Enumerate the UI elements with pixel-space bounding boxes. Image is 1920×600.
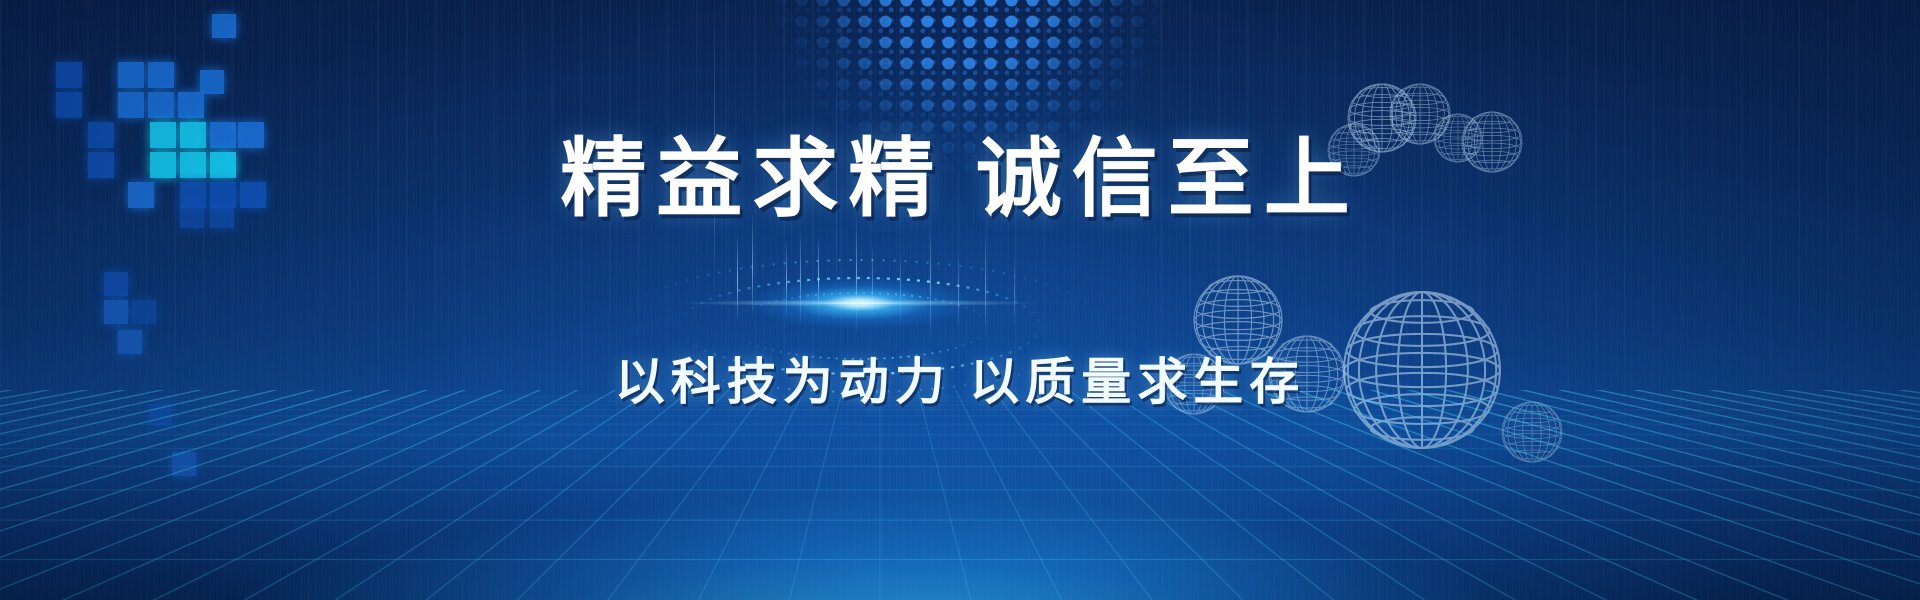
mosaic-pixel (148, 62, 174, 88)
light-beam (818, 236, 819, 320)
light-beam (872, 244, 873, 322)
mosaic-pixel (172, 452, 196, 476)
page-title: 精益求精 诚信至上 (0, 108, 1920, 233)
mosaic-pixel (104, 300, 128, 324)
mosaic-pixel (56, 62, 82, 88)
light-beam (958, 250, 959, 330)
light-beam (900, 252, 901, 326)
light-beam (930, 222, 931, 340)
mosaic-pixel (132, 300, 156, 324)
mosaic-pixel (212, 14, 236, 38)
mosaic-pixel (200, 70, 224, 94)
mosaic-pixel (104, 272, 128, 296)
light-beam (1014, 254, 1015, 326)
light-beam (786, 240, 787, 320)
light-beam (800, 228, 801, 328)
hero-banner: 精益求精 诚信至上 以科技为动力 以质量求生存 (0, 0, 1920, 600)
light-beam (985, 226, 986, 338)
mosaic-pixel (118, 62, 144, 88)
light-beam (737, 232, 738, 322)
page-subtitle: 以科技为动力 以质量求生存 (0, 342, 1920, 414)
